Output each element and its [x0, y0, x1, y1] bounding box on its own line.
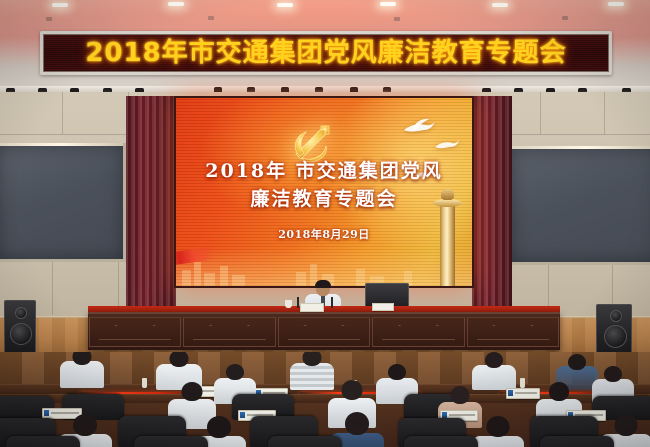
audience-member	[60, 352, 104, 386]
ceiling-downlight	[492, 3, 508, 7]
ceiling-downlight	[168, 2, 184, 6]
audience-member	[472, 416, 524, 447]
name-placard	[372, 303, 394, 311]
screen-date: 2018年8月29日	[176, 226, 472, 242]
audience-member	[592, 366, 634, 400]
stage-curtain-right	[472, 96, 512, 322]
audience-chair	[134, 436, 208, 447]
ceiling-downlight	[608, 2, 624, 6]
podium-panel	[183, 317, 275, 347]
floor-speaker-left	[4, 300, 36, 358]
name-placard	[506, 388, 540, 399]
audience-member	[472, 352, 516, 388]
side-acoustic-panel-left	[0, 143, 126, 262]
podium-panel	[278, 317, 370, 347]
audience-chair	[268, 436, 342, 447]
water-bottle	[520, 378, 525, 388]
audience-chair	[6, 436, 80, 447]
ceiling-downlight	[380, 2, 396, 6]
audience-chair	[540, 436, 614, 447]
led-banner: 2018年市交通集团党风廉洁教育专题会	[40, 31, 612, 75]
name-placard	[300, 303, 324, 312]
head-table-podium	[88, 312, 560, 350]
ceiling-sprinkler	[208, 16, 214, 20]
side-acoustic-panel-right	[508, 146, 650, 265]
projection-screen-content: 2018年 市交通集团党风 廉洁教育专题会 2018年8月29日	[176, 98, 472, 286]
projection-screen: 2018年 市交通集团党风 廉洁教育专题会 2018年8月29日	[174, 96, 474, 288]
podium-panel	[89, 317, 181, 347]
podium-panel	[467, 317, 559, 347]
ceiling-downlight	[277, 3, 293, 7]
audience-chair	[404, 436, 478, 447]
conference-hall-photo: 2018年市交通集团党风廉洁教育专题会	[0, 0, 650, 447]
ceiling-sprinkler	[562, 16, 568, 20]
ceiling-sprinkler	[394, 17, 400, 21]
audience-area	[0, 352, 650, 447]
ceiling-sprinkler	[46, 17, 52, 21]
screen-title: 2018年 市交通集团党风 廉洁教育专题会	[176, 158, 472, 213]
podium-panel	[372, 317, 464, 347]
led-banner-matrix: 2018年市交通集团党风廉洁教育专题会	[43, 34, 609, 72]
dove-icon	[402, 116, 436, 138]
water-bottle	[142, 378, 147, 388]
ceiling-downlight	[52, 3, 68, 7]
microphone	[297, 297, 299, 308]
stage-curtain-left	[126, 96, 176, 322]
led-banner-text: 2018年市交通集团党风廉洁教育专题会	[85, 40, 566, 66]
tea-cup	[285, 300, 292, 308]
microphone	[331, 297, 333, 308]
dove-icon	[434, 136, 460, 153]
